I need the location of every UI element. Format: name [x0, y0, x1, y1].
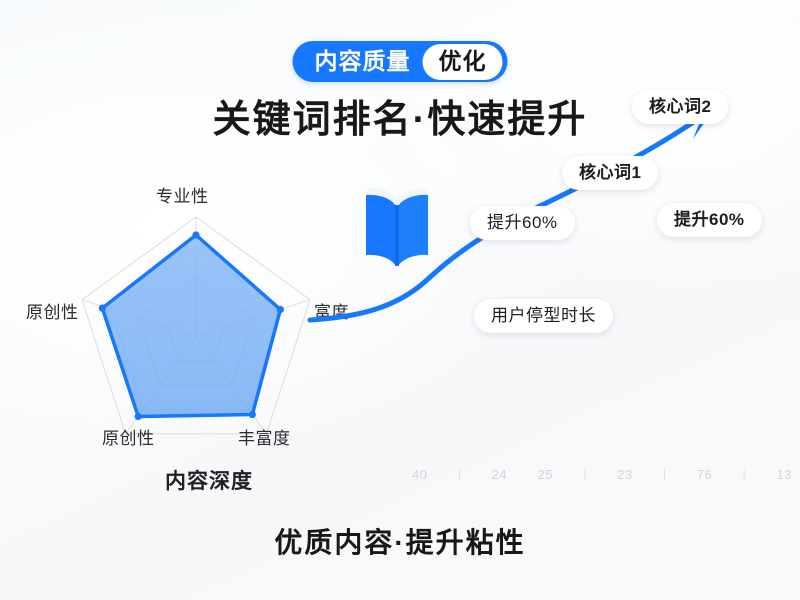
scale-tick: 76 [697, 467, 712, 482]
open-book-icon [362, 182, 432, 272]
content-depth-caption: 内容深度 [165, 465, 253, 495]
radar-chart-svg [28, 185, 388, 475]
chip-uplift-left-label: 提升60% [487, 213, 558, 232]
radar-label-right: 富度 [314, 298, 349, 323]
page-tagline: 优质内容·提升粘性 [274, 521, 525, 561]
page-title: 关键词排名·快速提升 [213, 88, 588, 143]
scale-tick: | [743, 468, 746, 480]
radar-series-area [102, 235, 280, 416]
badge-main-label: 内容质量 [293, 41, 423, 82]
chip-keyword-1-label: 核心词1 [579, 163, 641, 182]
chip-keyword-2-label: 核心词2 [649, 97, 711, 116]
chip-keyword-2[interactable]: 核心词2 [632, 90, 728, 124]
slide-canvas: 内容质量 优化 关键词排名·快速提升 [0, 0, 800, 600]
chip-uplift-right-label: 提升60% [674, 210, 745, 229]
chip-keyword-1[interactable]: 核心词1 [562, 156, 658, 190]
radar-label-top: 专业性 [156, 182, 209, 207]
scale-tick: | [458, 468, 461, 480]
chip-dwell-time-label: 用户停型时长 [491, 306, 596, 325]
chip-dwell-time[interactable]: 用户停型时长 [474, 299, 613, 333]
scale-tick: 13 [776, 467, 791, 482]
open-book-icon-svg [362, 182, 432, 272]
radar-chart: 专业性 富度 丰富度 原创性 原创性 [28, 185, 388, 475]
content-quality-badge[interactable]: 内容质量 优化 [293, 41, 508, 82]
radar-label-left: 原创性 [26, 298, 79, 323]
radar-label-bottom-left: 原创性 [102, 424, 155, 449]
chip-uplift-right[interactable]: 提升60% [657, 203, 762, 237]
badge-chip-label: 优化 [423, 44, 503, 80]
scale-tick: 23 [617, 467, 632, 482]
chip-uplift-left[interactable]: 提升60% [470, 206, 575, 240]
scale-tick: 25 [538, 467, 553, 482]
scale-tick: 40 [412, 467, 427, 482]
scale-tick: | [583, 468, 586, 480]
axis-scale-row: 40 | 24 25 | 23 | 76 | 13 [412, 463, 792, 485]
radar-label-bottom-right: 丰富度 [238, 424, 291, 449]
scale-tick: | [663, 468, 666, 480]
scale-tick: 24 [492, 467, 507, 482]
